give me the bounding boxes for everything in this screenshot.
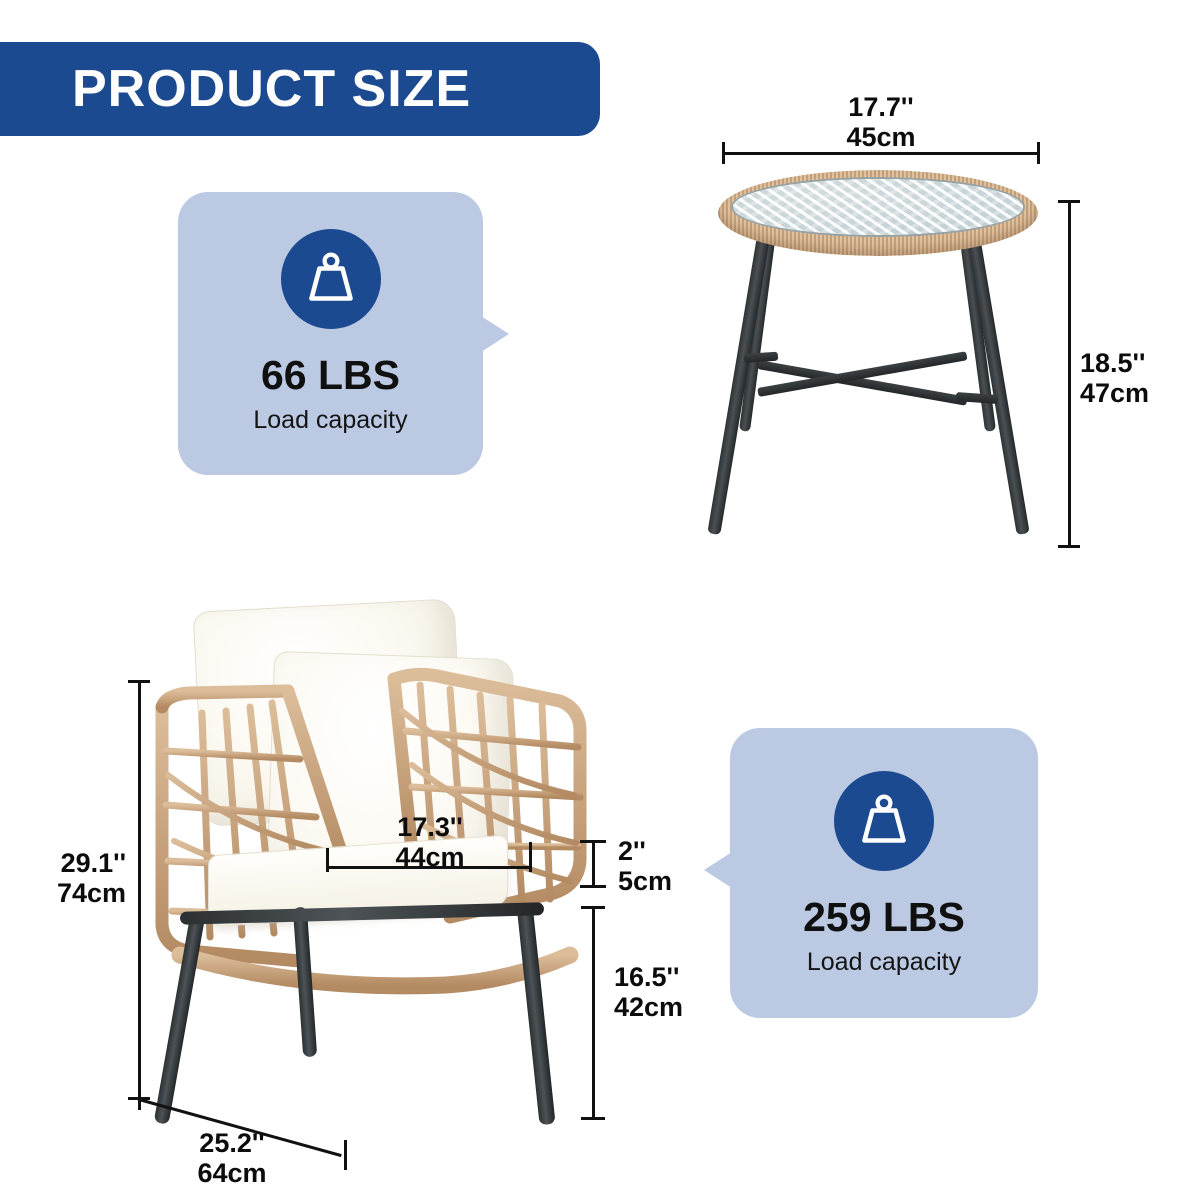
capacity-label: Load capacity <box>807 950 961 975</box>
rule-tick-start <box>326 848 329 872</box>
table-leg-front-left <box>707 237 769 535</box>
capacity-value: 259 LBS <box>803 897 965 938</box>
weight-icon <box>302 251 360 307</box>
table-top <box>718 170 1038 256</box>
seat-height-rule <box>592 906 595 1120</box>
dim-metric: 45cm <box>791 122 971 152</box>
page-title: PRODUCT SIZE <box>0 63 471 115</box>
chair-depth-label: 25.2'' 64cm <box>152 1128 312 1188</box>
table-diameter-label: 17.7'' 45cm <box>791 92 971 152</box>
chair-depth-tick-end <box>344 1140 347 1170</box>
chair-load-capacity-card: 259 LBS Load capacity <box>730 728 1038 1018</box>
product-size-banner: PRODUCT SIZE <box>0 42 600 136</box>
dim-metric: 5cm <box>618 866 672 896</box>
capacity-value: 66 LBS <box>261 355 400 396</box>
dim-imperial: 16.5'' <box>614 962 683 992</box>
rule-tick-end <box>1037 142 1040 164</box>
side-table-illustration <box>700 160 1070 560</box>
dim-metric: 44cm <box>360 842 500 872</box>
rule-tick-start <box>722 142 725 164</box>
chair-height-label: 29.1'' 74cm <box>0 848 126 908</box>
table-height-label: 18.5'' 47cm <box>1080 348 1149 408</box>
dim-imperial: 25.2'' <box>152 1128 312 1158</box>
seat-width-label: 17.3'' 44cm <box>360 812 500 872</box>
table-glass-surface <box>731 177 1025 237</box>
rule-tick-start <box>580 840 606 843</box>
rule-tick-end <box>580 885 606 888</box>
chair-height-rule <box>138 680 141 1100</box>
weight-icon <box>855 793 913 849</box>
table-leg-front-right <box>967 237 1029 535</box>
capacity-label: Load capacity <box>253 408 407 433</box>
weight-icon-circle <box>281 229 381 329</box>
rule-tick-end <box>529 842 532 872</box>
dim-metric: 42cm <box>614 992 683 1022</box>
weight-icon-circle <box>834 771 934 871</box>
rule-tick-end <box>581 1117 605 1120</box>
infographic-canvas: PRODUCT SIZE 66 LBS Load capacity 259 LB… <box>0 0 1200 1200</box>
table-height-rule <box>1068 200 1071 548</box>
rule-tick-end <box>1058 545 1080 548</box>
cushion-thickness-label: 2'' 5cm <box>618 836 672 896</box>
dim-imperial: 29.1'' <box>0 848 126 878</box>
dim-imperial: 18.5'' <box>1080 348 1149 378</box>
dim-imperial: 2'' <box>618 836 672 866</box>
chair-depth-tick-start <box>138 1086 141 1110</box>
bubble-tail <box>481 316 509 352</box>
rule-tick-start <box>1058 200 1080 203</box>
seat-height-label: 16.5'' 42cm <box>614 962 683 1022</box>
cushion-thickness-rule <box>592 840 595 888</box>
table-brace-spur-left <box>744 352 779 363</box>
table-load-capacity-card: 66 LBS Load capacity <box>178 192 483 475</box>
dim-metric: 47cm <box>1080 378 1149 408</box>
dim-metric: 74cm <box>0 878 126 908</box>
dim-metric: 64cm <box>152 1158 312 1188</box>
dim-imperial: 17.3'' <box>360 812 500 842</box>
rule-tick-start <box>128 680 150 683</box>
dim-imperial: 17.7'' <box>791 92 971 122</box>
rule-tick-start <box>581 906 605 909</box>
bubble-tail <box>704 852 732 888</box>
